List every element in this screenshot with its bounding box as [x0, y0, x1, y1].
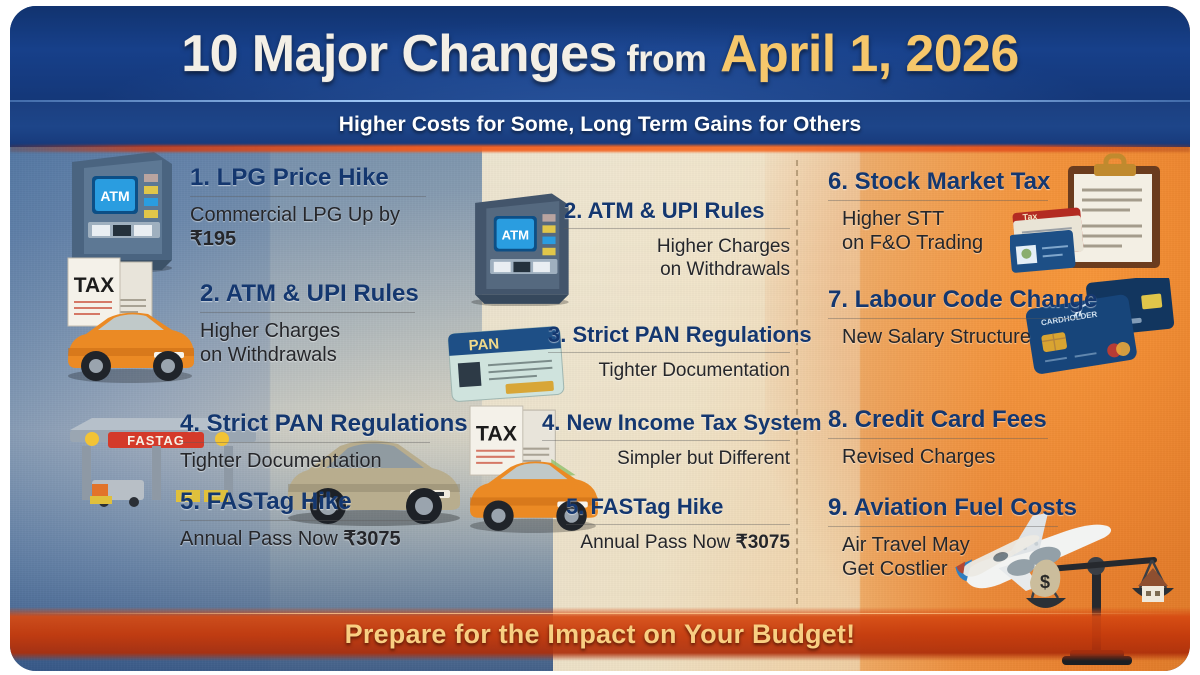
item-description: Simpler but Different: [542, 447, 790, 470]
header-accent-line: [10, 145, 1190, 152]
item-left-5[interactable]: 5. FASTag Hike Annual Pass Now ₹3075: [180, 488, 430, 551]
item-description-line1: Higher STT: [842, 207, 1048, 231]
column-middle: 2. ATM & UPI Rules Higher Charges on Wit…: [430, 152, 790, 622]
item-right-7[interactable]: 7. Labour Code Change New Salary Structu…: [828, 286, 1080, 349]
poster-frame: ATM TAX: [10, 6, 1190, 671]
item-heading: 2. ATM & UPI Rules: [564, 198, 790, 224]
item-rule: [542, 440, 790, 441]
item-left-1[interactable]: 1. LPG Price Hike Commercial LPG Up by ₹…: [190, 164, 426, 252]
header-band: 10 Major Changes from April 1, 2026: [10, 6, 1190, 102]
item-description: Annual Pass Now ₹3075: [180, 527, 430, 551]
item-value: ₹3075: [343, 528, 400, 550]
footer-text: Prepare for the Impact on Your Budget!: [345, 619, 856, 650]
title-number: 10: [181, 25, 238, 83]
item-left-4[interactable]: 4. Strict PAN Regulations Tighter Docume…: [180, 410, 430, 473]
item-rule: [566, 524, 790, 525]
item-description-line2: on Withdrawals: [564, 258, 790, 281]
item-rule: [180, 442, 430, 443]
item-rule: [200, 312, 415, 313]
title-date: April 1, 2026: [720, 25, 1019, 83]
column-right: 6. Stock Market Tax Higher STT on F&O Tr…: [810, 152, 1182, 622]
item-heading: 4. New Income Tax System: [542, 410, 790, 436]
item-description: Tighter Documentation: [548, 359, 790, 382]
content-columns: 1. LPG Price Hike Commercial LPG Up by ₹…: [10, 152, 1190, 622]
subtitle: Higher Costs for Some, Long Term Gains f…: [339, 113, 862, 137]
item-rule: [190, 196, 426, 197]
item-right-6[interactable]: 6. Stock Market Tax Higher STT on F&O Tr…: [828, 168, 1048, 256]
item-heading: 4. Strict PAN Regulations: [180, 410, 430, 438]
item-description-line2: on Withdrawals: [200, 343, 415, 367]
item-description: Higher STT on F&O Trading: [828, 207, 1048, 256]
item-description: Commercial LPG Up by ₹195: [190, 203, 426, 252]
item-heading: 3. Strict PAN Regulations: [548, 322, 790, 348]
item-right-9[interactable]: 9. Aviation Fuel Costs Air Travel May Ge…: [828, 494, 1058, 582]
item-description-line1: Higher Charges: [564, 235, 790, 258]
item-description: Tighter Documentation: [180, 449, 430, 473]
item-value: ₹195: [190, 228, 236, 250]
item-description-line1: Air Travel May: [842, 533, 1058, 557]
item-left-2[interactable]: 2. ATM & UPI Rules Higher Charges on Wit…: [200, 280, 415, 368]
item-rule: [828, 526, 1058, 527]
item-mid-3[interactable]: 3. Strict PAN Regulations Tighter Docume…: [548, 322, 790, 382]
title-main: Major Changes: [252, 25, 617, 83]
item-mid-4[interactable]: 4. New Income Tax System Simpler but Dif…: [542, 410, 790, 470]
subtitle-band: Higher Costs for Some, Long Term Gains f…: [10, 102, 1190, 147]
title-from: from: [626, 38, 706, 79]
item-rule: [548, 352, 790, 353]
item-rule: [564, 228, 790, 229]
item-rule: [828, 438, 1048, 439]
item-heading: 6. Stock Market Tax: [828, 168, 1048, 196]
item-mid-5[interactable]: 5. FASTag Hike Annual Pass Now ₹3075: [566, 494, 790, 554]
item-description: Air Travel May Get Costlier: [828, 533, 1058, 582]
item-description: Annual Pass Now ₹3075: [566, 531, 790, 554]
item-heading: 1. LPG Price Hike: [190, 164, 426, 192]
item-description-line1: Higher Charges: [200, 319, 415, 343]
item-description: Higher Charges on Withdrawals: [564, 235, 790, 281]
item-rule: [180, 520, 430, 521]
item-mid-2[interactable]: 2. ATM & UPI Rules Higher Charges on Wit…: [564, 198, 790, 281]
item-description: Higher Charges on Withdrawals: [200, 319, 415, 368]
item-heading: 8. Credit Card Fees: [828, 406, 1048, 434]
item-heading: 7. Labour Code Change: [828, 286, 1080, 314]
footer-banner: Prepare for the Impact on Your Budget!: [10, 607, 1190, 661]
page-title: 10 Major Changes from April 1, 2026: [181, 24, 1018, 84]
item-heading: 9. Aviation Fuel Costs: [828, 494, 1058, 522]
infographic-poster: ATM TAX: [0, 0, 1200, 675]
item-heading: 2. ATM & UPI Rules: [200, 280, 415, 308]
item-description-line2: on F&O Trading: [842, 231, 1048, 255]
column-left: 1. LPG Price Hike Commercial LPG Up by ₹…: [20, 152, 420, 622]
item-rule: [828, 200, 1048, 201]
column-divider: [796, 160, 798, 604]
item-heading: 5. FASTag Hike: [180, 488, 430, 516]
item-description-line2: Get Costlier: [842, 557, 1058, 581]
item-rule: [828, 318, 1080, 319]
item-right-8[interactable]: 8. Credit Card Fees Revised Charges: [828, 406, 1048, 469]
item-value: ₹3075: [736, 532, 790, 553]
item-description: Revised Charges: [828, 445, 1048, 469]
item-heading: 5. FASTag Hike: [566, 494, 790, 520]
item-description: New Salary Structure: [828, 325, 1080, 349]
